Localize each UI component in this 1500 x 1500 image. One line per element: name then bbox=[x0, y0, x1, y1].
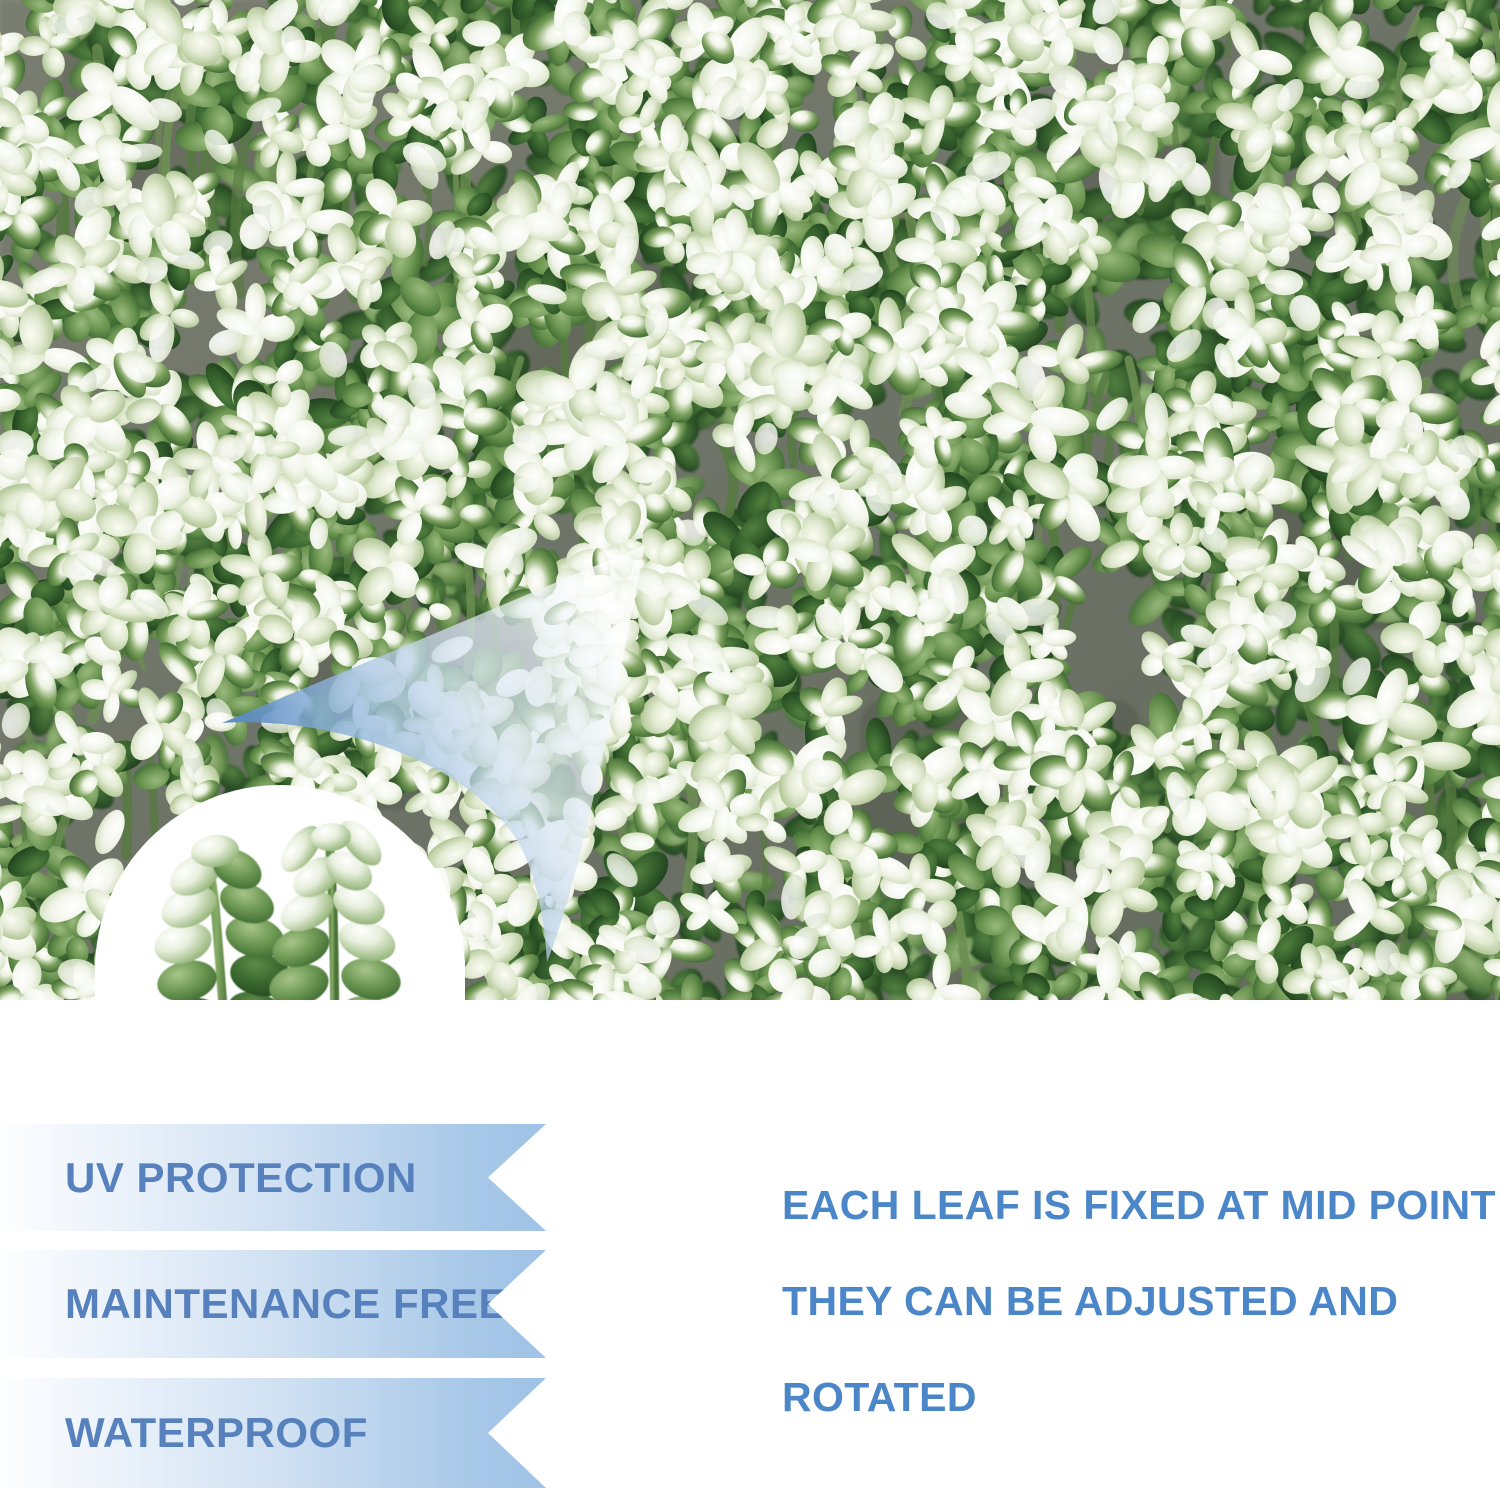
feature-line: ROTATED bbox=[782, 1377, 1482, 1418]
feature-banner-waterproof: WATERPROOF bbox=[0, 1378, 546, 1488]
product-feature-graphic: UV PROTECTION MAINTENANCE FREE WATERPROO… bbox=[0, 0, 1500, 1500]
feature-line: EACH LEAF IS FIXED AT MID POINT bbox=[782, 1185, 1482, 1226]
feature-banner-uv-protection: UV PROTECTION bbox=[0, 1124, 546, 1231]
feature-line: THEY CAN BE ADJUSTED AND bbox=[782, 1281, 1482, 1322]
banner-label: UV PROTECTION bbox=[65, 1157, 417, 1199]
banner-label: MAINTENANCE FREE bbox=[65, 1283, 507, 1325]
feature-description: EACH LEAF IS FIXED AT MID POINT THEY CAN… bbox=[782, 1185, 1482, 1418]
banner-label: WATERPROOF bbox=[65, 1412, 368, 1454]
feature-banner-maintenance-free: MAINTENANCE FREE bbox=[0, 1250, 546, 1358]
